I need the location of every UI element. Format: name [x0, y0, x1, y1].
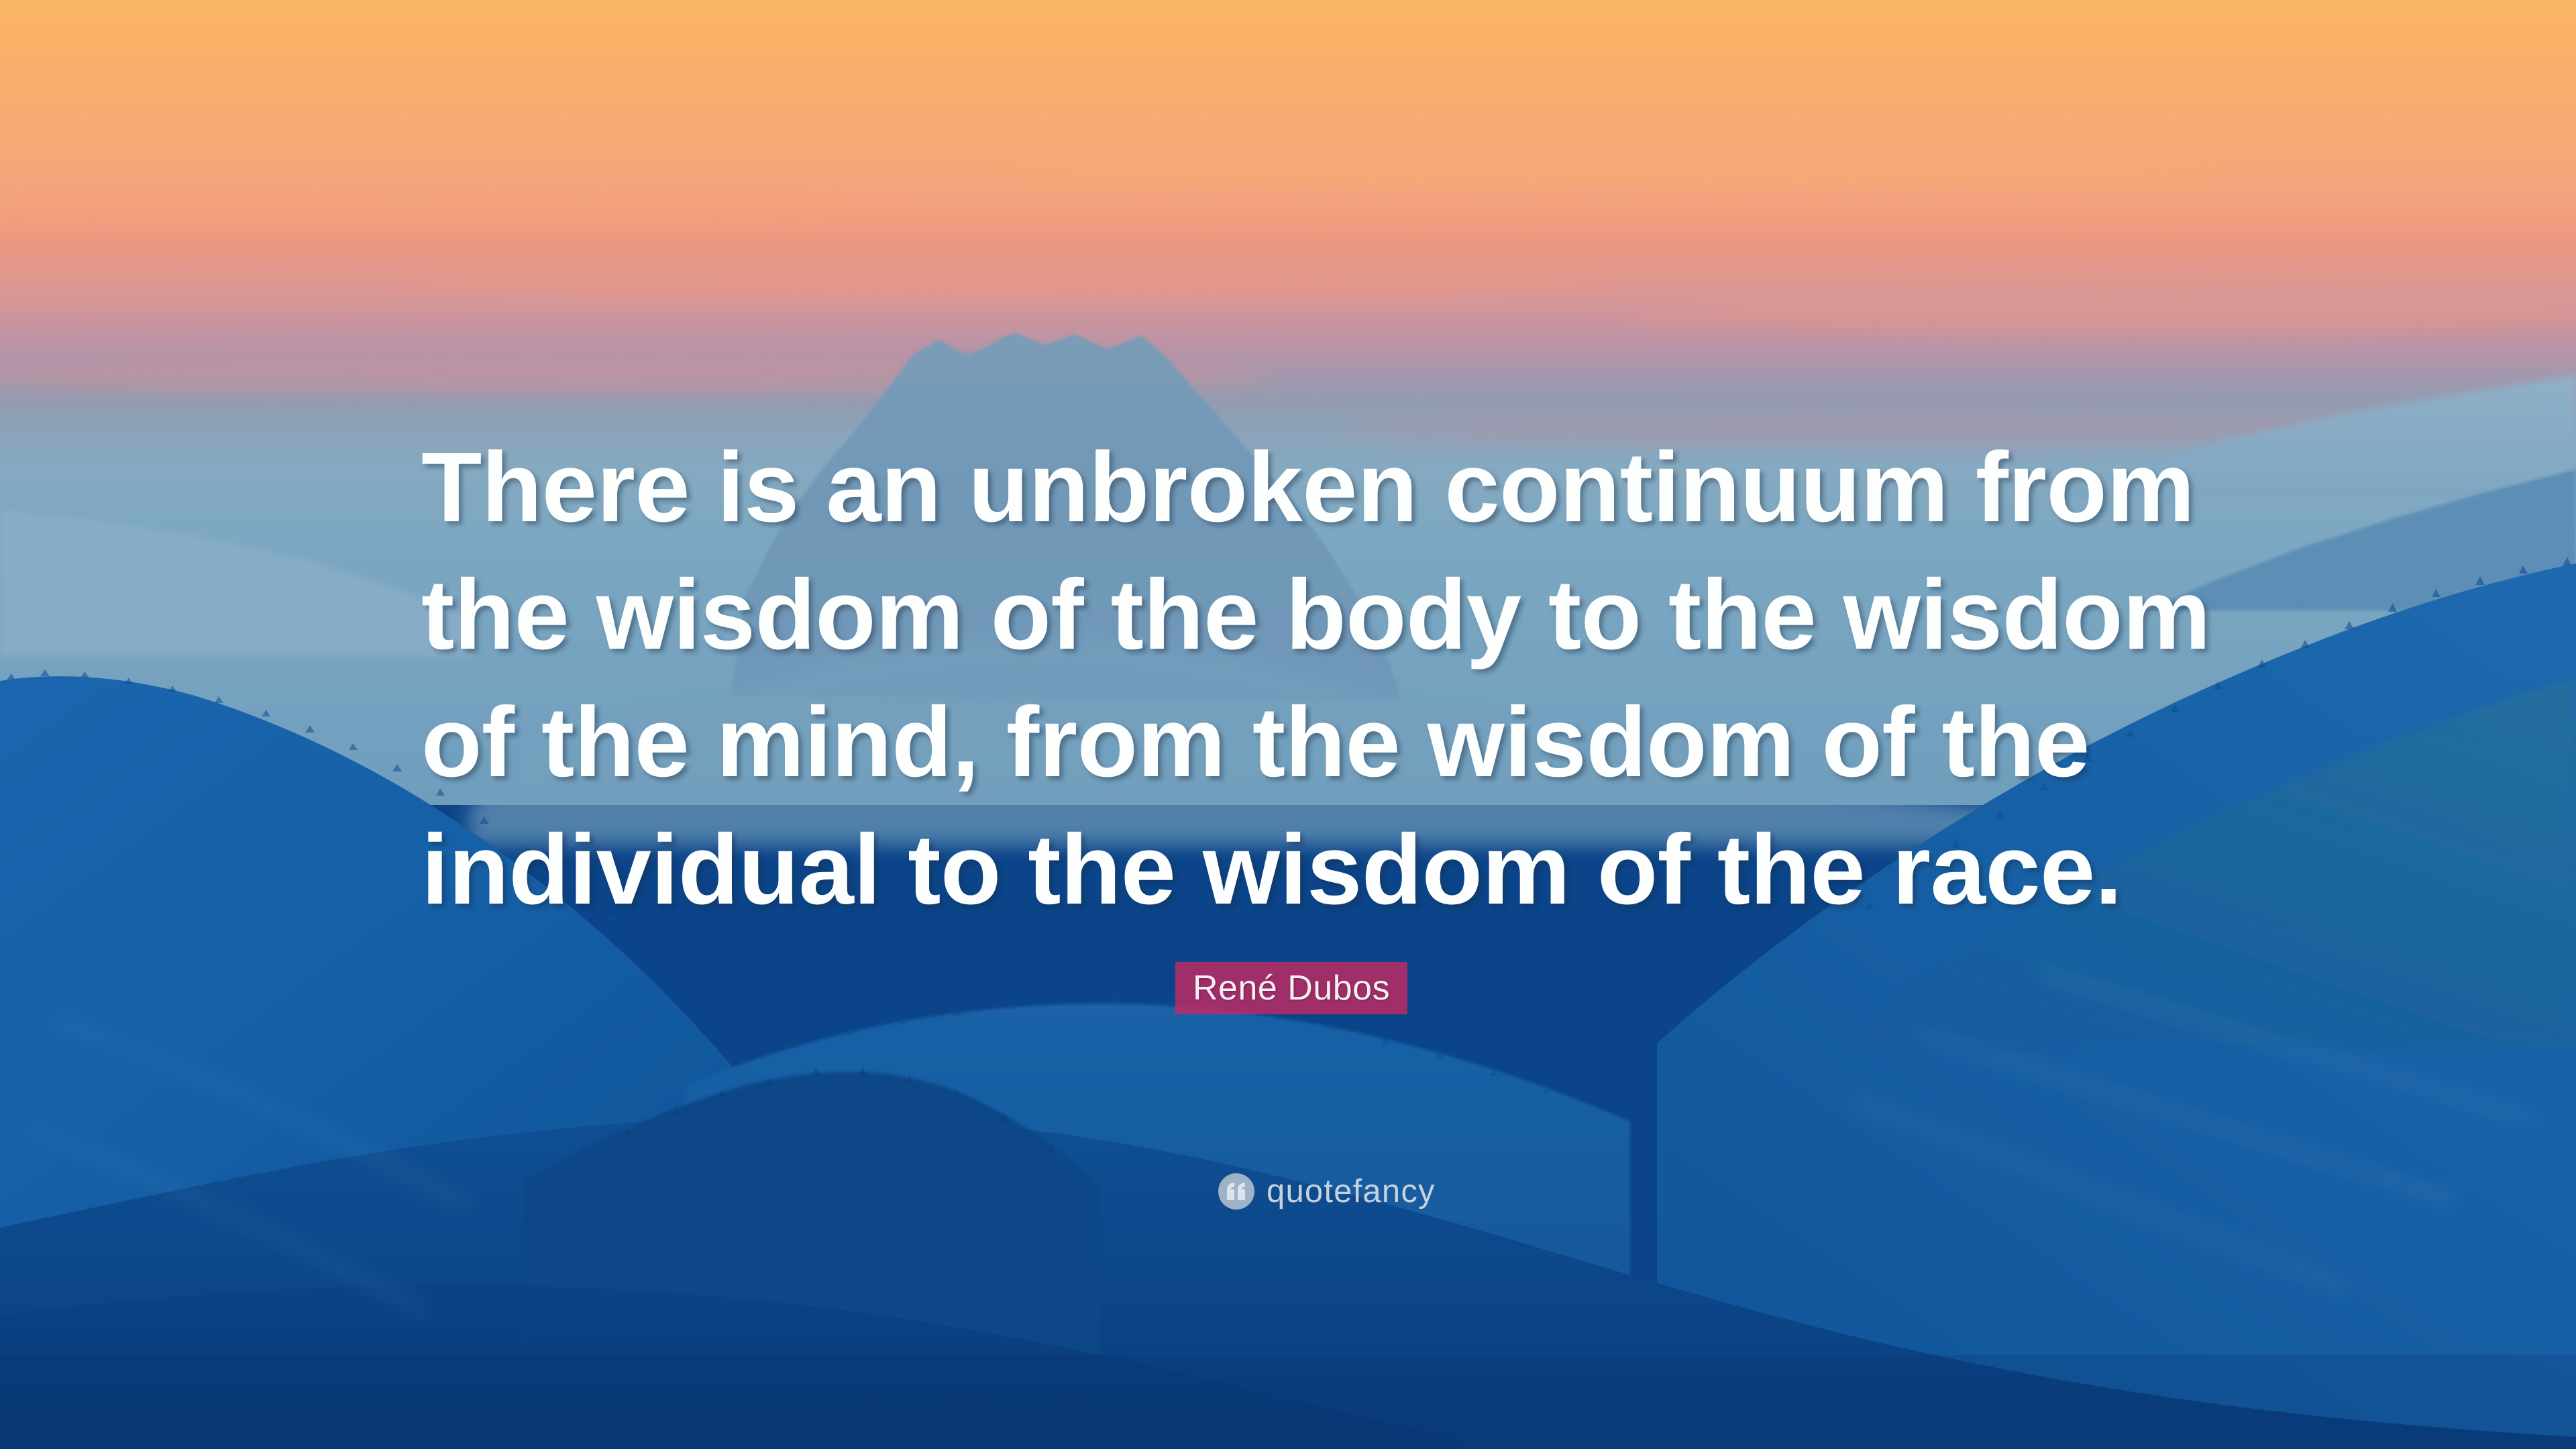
author-attribution-badge[interactable]: René Dubos [1175, 962, 1407, 1014]
quote-line: individual to the wisdom of the race. [421, 806, 2219, 934]
author-name: René Dubos [1193, 968, 1390, 1008]
quote-line: the wisdom of the body to the wisdom [421, 551, 2219, 679]
quote-line: There is an unbroken continuum from [421, 424, 2219, 551]
watermark-label: quotefancy [1267, 1173, 1436, 1210]
quote-image-canvas: There is an unbroken continuum from the … [0, 0, 2576, 1449]
quote-text-block: There is an unbroken continuum from the … [421, 424, 2219, 934]
quote-mark-icon [1218, 1173, 1254, 1210]
quote-line: of the mind, from the wisdom of the [421, 679, 2219, 806]
quotefancy-watermark[interactable]: quotefancy [1218, 1173, 1436, 1210]
bottom-vignette [0, 1355, 2576, 1449]
